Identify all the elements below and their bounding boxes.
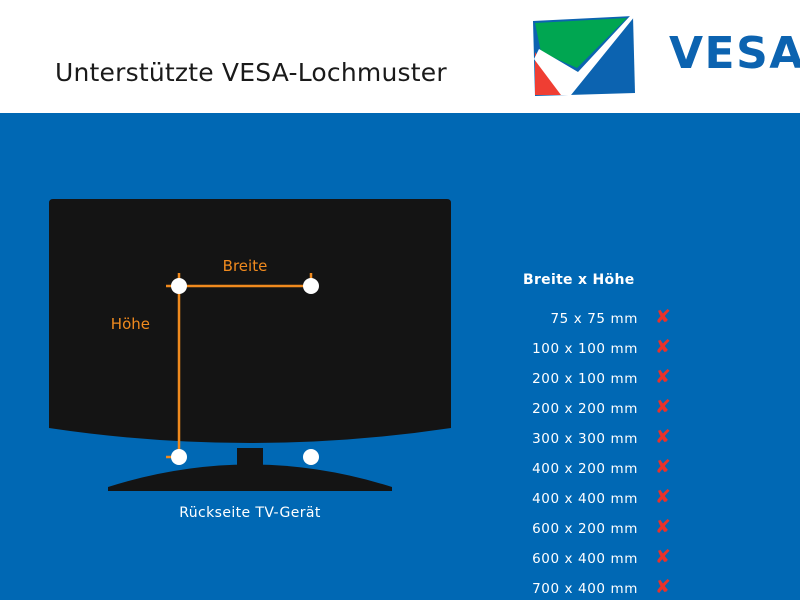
mount-hole-bottom-right (303, 449, 319, 465)
size-row: 700 x 400 mm✘ (500, 581, 700, 600)
tv-base (108, 465, 392, 492)
unsupported-cross-icon: ✘ (655, 578, 671, 597)
size-label: 600 x 400 mm (532, 551, 638, 567)
size-label: 75 x 75 mm (550, 311, 638, 327)
page-header: Unterstützte VESA-Lochmuster VESA (0, 0, 800, 113)
size-label: 200 x 100 mm (532, 371, 638, 387)
width-label: Breite (223, 257, 268, 275)
size-label: 700 x 400 mm (532, 581, 638, 597)
size-label: 400 x 200 mm (532, 461, 638, 477)
size-label: 100 x 100 mm (532, 341, 638, 357)
unsupported-cross-icon: ✘ (655, 398, 671, 417)
unsupported-cross-icon: ✘ (655, 368, 671, 387)
size-label: 600 x 200 mm (532, 521, 638, 537)
vesa-info-page: Unterstützte VESA-Lochmuster VESA (0, 0, 800, 600)
tv-body (49, 199, 451, 443)
size-label: 400 x 400 mm (532, 491, 638, 507)
tv-back-illustration: Breite Höhe (30, 190, 470, 530)
page-title: Unterstützte VESA-Lochmuster (55, 58, 447, 87)
size-label: 200 x 200 mm (532, 401, 638, 417)
mount-hole-bottom-left (171, 449, 187, 465)
height-label: Höhe (111, 315, 150, 333)
vesa-wordmark: VESA (669, 32, 800, 76)
unsupported-cross-icon: ✘ (655, 548, 671, 567)
size-list-header: Breite x Höhe (523, 272, 635, 288)
tv-caption: Rückseite TV-Gerät (30, 505, 470, 521)
unsupported-cross-icon: ✘ (655, 428, 671, 447)
unsupported-cross-icon: ✘ (655, 518, 671, 537)
unsupported-cross-icon: ✘ (655, 338, 671, 357)
mount-hole-top-right (303, 278, 319, 294)
unsupported-cross-icon: ✘ (655, 308, 671, 327)
size-label: 300 x 300 mm (532, 431, 638, 447)
mount-hole-top-left (171, 278, 187, 294)
vesa-size-list: 75 x 75 mm✘100 x 100 mm✘200 x 100 mm✘200… (500, 311, 700, 600)
content-area: Breite Höhe Rückseite TV-Gerät Breite x … (0, 113, 800, 600)
unsupported-cross-icon: ✘ (655, 458, 671, 477)
unsupported-cross-icon: ✘ (655, 488, 671, 507)
vesa-logo-icon (531, 16, 635, 96)
vesa-logo: VESA (531, 16, 783, 96)
